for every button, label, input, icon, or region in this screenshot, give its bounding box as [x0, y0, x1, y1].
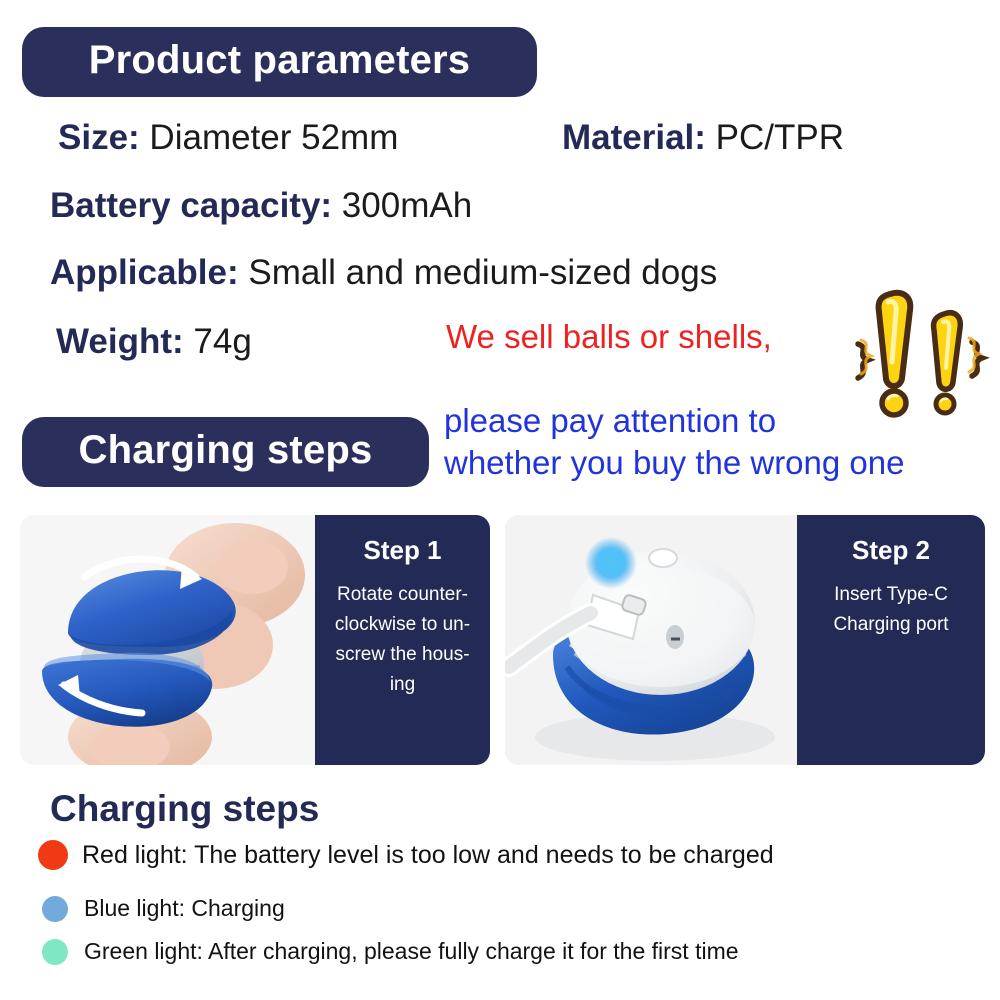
warning-blue-line-2: whether you buy the wrong one: [444, 442, 1000, 484]
legend-text-red-light: Red light: The battery level is too low …: [82, 841, 774, 870]
spec-row-battery-capacity: Battery capacity: 300mAh: [50, 188, 472, 223]
step-2-text-panel: Step 2 Insert Type-C Charging port: [797, 515, 985, 765]
charging-steps-badge: Charging steps: [22, 417, 429, 487]
green-light-dot: [42, 939, 68, 965]
step-card-1: Step 1 Rotate counter- clockwise to un- …: [20, 515, 490, 765]
spec-value-size: Diameter 52mm: [149, 118, 398, 157]
spec-value-battery-capacity: 300mAh: [342, 186, 472, 225]
spec-label-battery-capacity: Battery capacity:: [50, 186, 342, 225]
spec-row-applicable: Applicable: Small and medium-sized dogs: [50, 255, 717, 290]
legend-heading: Charging steps: [50, 788, 319, 830]
legend-text-green-light: Green light: After charging, please full…: [84, 938, 739, 965]
spec-row-material: Material: PC/TPR: [562, 120, 844, 155]
spec-label-size: Size:: [58, 118, 149, 157]
product-parameters-badge: Product parameters: [22, 27, 537, 97]
blue-light-dot: [42, 896, 68, 922]
step-1-photo: [20, 515, 315, 765]
spec-value-applicable: Small and medium-sized dogs: [248, 253, 717, 292]
step-1-title: Step 1: [325, 535, 480, 566]
step-2-title: Step 2: [807, 535, 975, 566]
step-2-desc-line-2: Charging port: [807, 610, 975, 640]
step-1-description: Rotate counter- clockwise to un- screw t…: [325, 580, 480, 700]
spec-row-weight: Weight: 74g: [56, 324, 252, 359]
red-light-dot: [38, 840, 68, 870]
legend-text-blue-light: Blue light: Charging: [84, 895, 285, 922]
warning-red-text: We sell balls or shells,: [446, 318, 772, 356]
double-exclamation-icon: [852, 282, 1000, 422]
step-2-desc-line-1: Insert Type-C: [807, 580, 975, 610]
spec-label-applicable: Applicable:: [50, 253, 248, 292]
charging-steps-badge-label: Charging steps: [79, 428, 373, 473]
product-parameters-badge-label: Product parameters: [89, 38, 471, 83]
spec-value-material: PC/TPR: [716, 118, 844, 157]
legend-row-blue-light: Blue light: Charging: [42, 895, 285, 922]
step-1-desc-line-4: ing: [325, 670, 480, 700]
spec-label-weight: Weight:: [56, 322, 193, 361]
step-1-text-panel: Step 1 Rotate counter- clockwise to un- …: [315, 515, 490, 765]
spec-label-material: Material:: [562, 118, 716, 157]
step-card-2: Step 2 Insert Type-C Charging port: [505, 515, 985, 765]
legend-row-green-light: Green light: After charging, please full…: [42, 938, 739, 965]
spec-value-weight: 74g: [193, 322, 251, 361]
spec-row-size: Size: Diameter 52mm: [58, 120, 398, 155]
step-2-description: Insert Type-C Charging port: [807, 580, 975, 640]
step-2-photo: [505, 515, 797, 765]
legend-row-red-light: Red light: The battery level is too low …: [38, 840, 774, 870]
step-1-desc-line-1: Rotate counter-: [325, 580, 480, 610]
step-1-desc-line-2: clockwise to un-: [325, 610, 480, 640]
step-1-desc-line-3: screw the hous-: [325, 640, 480, 670]
